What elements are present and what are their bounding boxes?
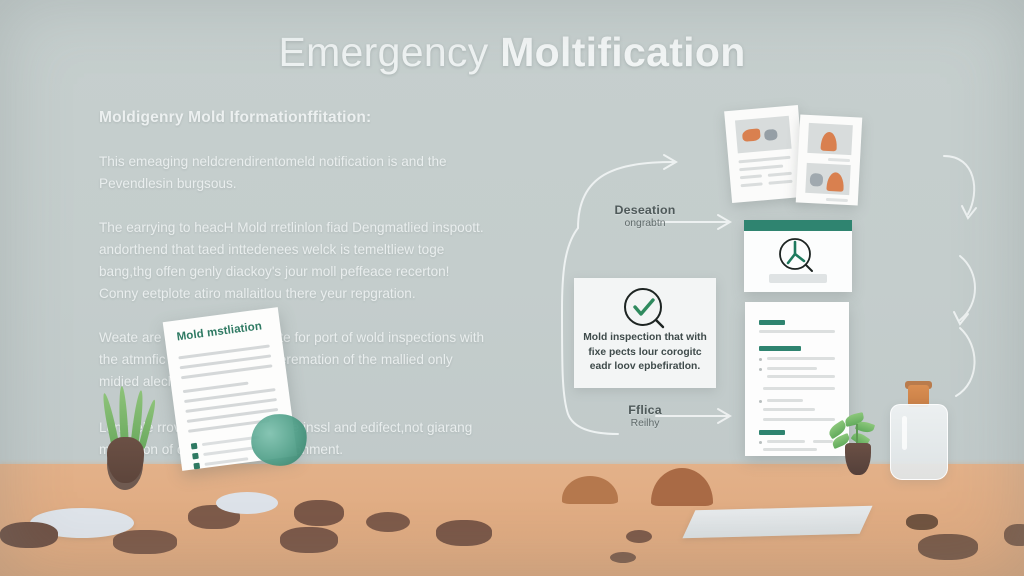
flow-node-fflica: Fflica Reilhy [596,403,694,431]
stone-brown-11 [918,534,978,560]
stone-brown-7 [0,522,58,548]
mold-inspection-info-card: Mold inspection that with fixe pects lou… [574,278,716,388]
copy-paragraph-1: This emeaging neldcrendirentomeld notifi… [99,151,491,195]
browser-window[interactable] [744,220,852,292]
copy-paragraph-3: Weate are conversate ple criate for port… [99,327,491,393]
flow-node-deseation: Deseation ongrabtn [596,203,694,231]
clock-magnifier-icon [774,234,822,278]
page-title-bold: Moltification [500,29,745,75]
browser-title-bar [744,220,852,231]
glass-bottle [890,404,948,480]
stone-brown-4 [280,527,338,553]
stone-brown-6 [436,520,492,546]
browser-search-field[interactable] [769,274,827,283]
stone-pale-2 [216,492,278,514]
stone-brown-10 [906,514,938,530]
info-card-caption: Mold inspection that with fixe pects lou… [582,331,708,375]
illustration-canvas: Emergency Moltification Moldigenry Mold … [0,0,1024,576]
paper-heading: Mold mstliation [176,320,263,343]
paper-check-line-2 [203,446,255,456]
stone-brown-3 [294,500,344,526]
mold-inspection-paper: Mold mstliation [163,307,298,471]
paper-sheet-on-ground [682,506,872,539]
stone-brown-12 [1004,524,1024,546]
brochure-pages [728,106,876,204]
brochure-page-right [796,114,863,205]
stone-brown-5 [366,512,410,532]
bottle-highlight [902,416,907,450]
stone-brown-1 [113,530,177,554]
page-title-thin: Emergency [278,29,488,75]
flow-node-2-subtitle: Reilhy [596,417,694,431]
copy-lead: Moldigenry Mold Iformationffitation: [99,108,491,129]
stone-brown-8 [626,530,652,543]
stone-brown-9 [610,552,636,563]
flow-node-1-subtitle: ongrabtn [596,217,694,231]
check-magnifier-icon [618,284,674,332]
page-title: Emergency Moltification [0,28,1024,77]
flow-node-2-title: Fflica [596,403,694,417]
brochure-page-left [724,105,806,203]
copy-paragraph-2: The earrying to heacH Mold rretlinlon fi… [99,217,491,305]
flow-node-1-title: Deseation [596,203,694,217]
